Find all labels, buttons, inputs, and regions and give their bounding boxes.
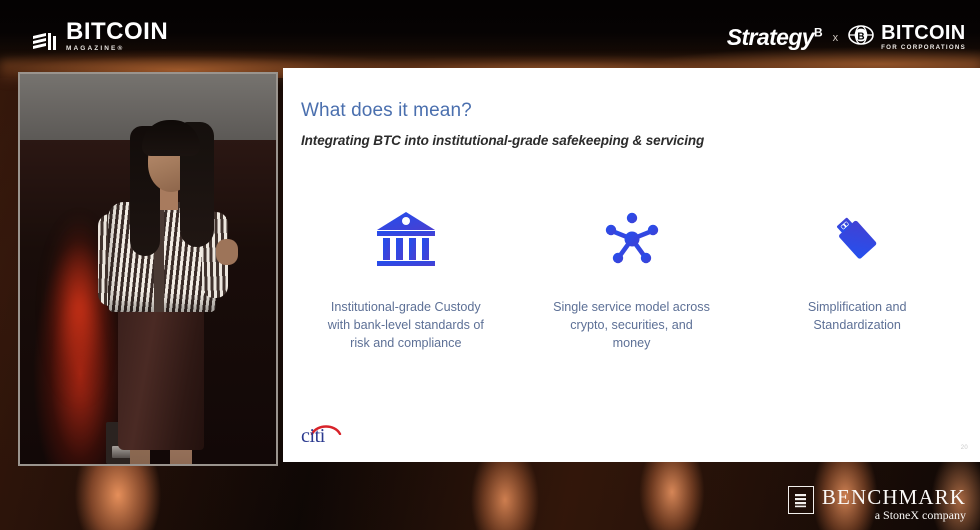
slide-caption-simplification: Simplification and Standardization [782, 299, 932, 335]
bitcoin-globe-icon: B [848, 22, 874, 53]
bfc-subtitle: FOR CORPORATIONS [881, 45, 966, 51]
presentation-slide[interactable]: What does it mean? Integrating BTC into … [283, 68, 980, 462]
bitcoin-magazine-title: BITCOIN [66, 20, 168, 44]
usb-flash-drive-icon [827, 203, 887, 275]
network-hub-icon [602, 203, 662, 275]
slide-caption-custody: Institutional-grade Custody with bank-le… [326, 299, 486, 353]
slide-columns: Institutional-grade Custody with bank-le… [293, 203, 970, 353]
bitcoin-magazine-bars-icon [33, 31, 59, 53]
logo-separator: x [833, 32, 839, 44]
benchmark-sponsor-logo: BENCHMARK a StoneX company [788, 486, 966, 522]
citi-wordmark: citi [301, 425, 325, 448]
slide-subtitle: Integrating BTC into institutional-grade… [301, 133, 704, 148]
slide-column-custody: Institutional-grade Custody with bank-le… [293, 203, 519, 353]
benchmark-title: BENCHMARK [822, 486, 966, 508]
strategy-wordmark: Strategy [727, 24, 814, 50]
slide-page-number: 20 [961, 445, 968, 451]
slide-caption-service-model: Single service model across crypto, secu… [552, 299, 712, 353]
presenter-skirt [118, 302, 204, 450]
bitcoin-magazine-subtitle: MAGAZINE® [66, 46, 168, 53]
bitcoin-magazine-logo: BITCOIN MAGAZINE® [33, 20, 168, 53]
speaker-video[interactable] [18, 72, 278, 466]
slide-column-simplification: Simplification and Standardization [744, 203, 970, 353]
slide-column-service-model: Single service model across crypto, secu… [519, 203, 745, 353]
strategy-superscript: B [814, 25, 823, 39]
citi-logo: citi [301, 422, 357, 448]
strategy-logo: StrategyB [727, 24, 823, 51]
bfc-title: BITCOIN [881, 23, 966, 43]
benchmark-subtitle: a StoneX company [822, 509, 966, 522]
bank-institution-icon [373, 203, 439, 275]
slide-title: What does it mean? [301, 100, 472, 122]
benchmark-b-icon [788, 486, 814, 514]
bitcoin-for-corporations-logo: B BITCOIN FOR CORPORATIONS [848, 22, 966, 53]
svg-text:B: B [858, 31, 865, 42]
presenter-hand-right [216, 239, 238, 265]
partner-logos: StrategyB x B BITCOIN FOR CORPORATIONS [727, 22, 966, 53]
